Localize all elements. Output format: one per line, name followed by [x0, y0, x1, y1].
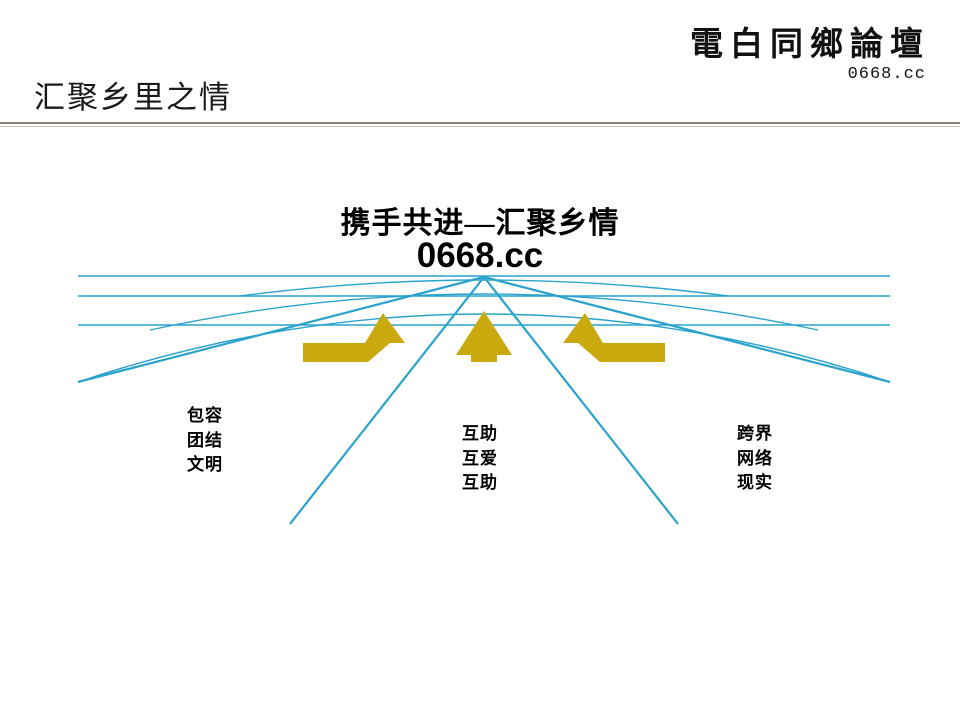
diagram-domain: 0668.cc — [0, 236, 960, 276]
label-line: 互助 — [425, 471, 535, 496]
label-line: 现实 — [700, 471, 810, 496]
label-line: 团结 — [150, 429, 260, 454]
label-line: 互助 — [425, 422, 535, 447]
direction-arrows — [303, 311, 665, 362]
label-line: 跨界 — [700, 422, 810, 447]
label-line: 文明 — [150, 453, 260, 478]
label-line: 包容 — [150, 404, 260, 429]
arrow-middle-icon — [456, 311, 512, 362]
slide: 汇聚乡里之情 電白同鄉論壇 0668.cc — [0, 0, 960, 720]
label-line: 互爱 — [425, 447, 535, 472]
label-group-middle: 互助 互爱 互助 — [425, 422, 535, 496]
perspective-diagram — [0, 0, 960, 720]
label-group-right: 跨界 网络 现实 — [700, 422, 810, 496]
label-line: 网络 — [700, 447, 810, 472]
label-group-left: 包容 团结 文明 — [150, 404, 260, 478]
